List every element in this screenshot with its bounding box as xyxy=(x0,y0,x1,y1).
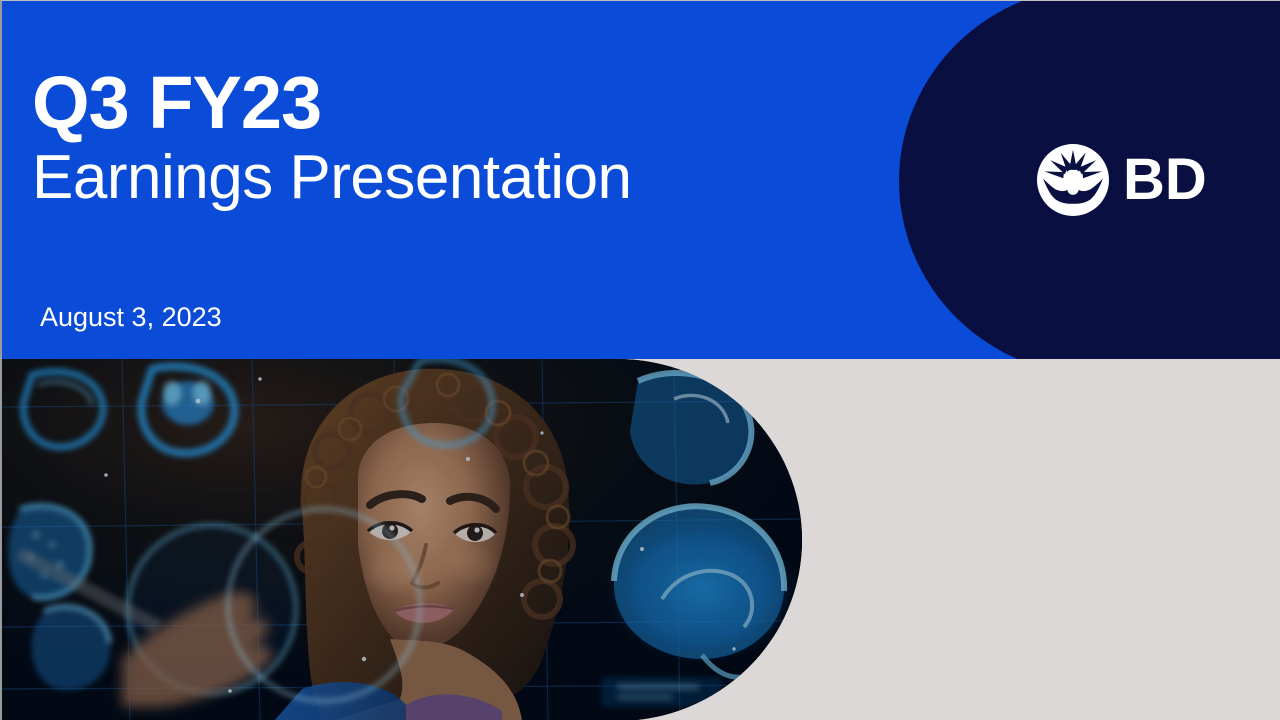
bd-wordmark: BD xyxy=(1123,151,1207,209)
page-title: Q3 FY23 xyxy=(32,63,832,143)
title-block: Q3 FY23 Earnings Presentation xyxy=(32,63,832,213)
bd-sunburst-icon xyxy=(1037,144,1109,216)
bd-logo-lockup: BD xyxy=(1037,141,1227,219)
slide-root: Q3 FY23 Earnings Presentation August 3, … xyxy=(0,0,1280,720)
presentation-date: August 3, 2023 xyxy=(40,301,222,333)
bottom-panel: Advancing the world of healthTM xyxy=(2,359,1280,720)
page-subtitle: Earnings Presentation xyxy=(32,143,832,213)
hero-photo xyxy=(2,359,802,720)
title-banner: Q3 FY23 Earnings Presentation August 3, … xyxy=(2,1,1280,359)
